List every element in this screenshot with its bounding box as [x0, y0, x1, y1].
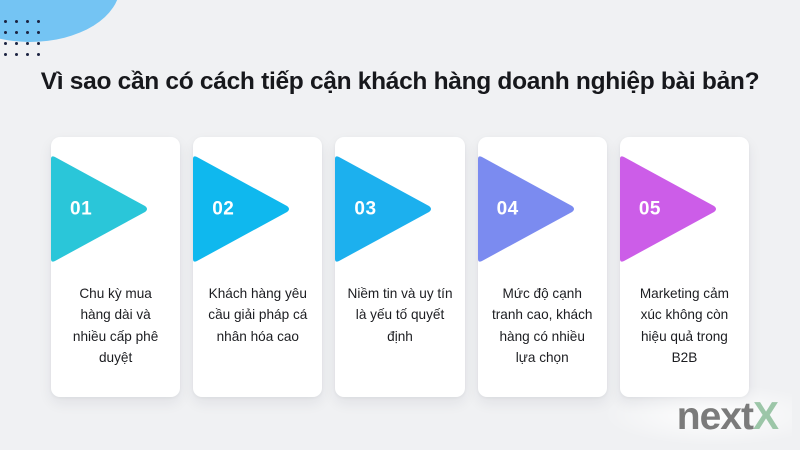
slide-canvas: Vì sao cần có cách tiếp cận khách hàng d… [0, 0, 800, 450]
card-item[interactable]: 03 Niềm tin và uy tín là yếu tố quyết đị… [335, 137, 464, 397]
card-number-label: 05 [639, 200, 661, 219]
card-body-text: Mức độ cạnh tranh cao, khách hàng có nhi… [478, 283, 607, 369]
card-body-text: Niềm tin và uy tín là yếu tố quyết định [335, 283, 464, 347]
card-item[interactable]: 05 Marketing cảm xúc không còn hiệu quả … [620, 137, 749, 397]
card-number-badge: 04 [478, 155, 607, 263]
logo-text-next: next [677, 397, 753, 436]
card-body-text: Khách hàng yêu cầu giải pháp cá nhân hóa… [193, 283, 322, 347]
card-item[interactable]: 04 Mức độ cạnh tranh cao, khách hàng có … [478, 137, 607, 397]
nextx-logo: nextX [677, 397, 778, 436]
play-triangle-icon [51, 155, 148, 263]
play-triangle-icon [620, 155, 717, 263]
card-number-badge: 02 [193, 155, 322, 263]
card-number-badge: 03 [335, 155, 464, 263]
play-triangle-icon [335, 155, 432, 263]
card-list: 01 Chu kỳ mua hàng dài và nhiều cấp phê … [51, 137, 749, 397]
card-number-label: 04 [497, 200, 519, 219]
card-item[interactable]: 01 Chu kỳ mua hàng dài và nhiều cấp phê … [51, 137, 180, 397]
card-number-label: 03 [354, 200, 376, 219]
card-item[interactable]: 02 Khách hàng yêu cầu giải pháp cá nhân … [193, 137, 322, 397]
page-title: Vì sao cần có cách tiếp cận khách hàng d… [0, 68, 800, 96]
dot-grid-decoration [4, 20, 48, 64]
card-number-badge: 01 [51, 155, 180, 263]
card-body-text: Marketing cảm xúc không còn hiệu quả tro… [620, 283, 749, 369]
play-triangle-icon [193, 155, 290, 263]
logo-text-x: X [753, 397, 778, 436]
card-body-text: Chu kỳ mua hàng dài và nhiều cấp phê duy… [51, 283, 180, 369]
card-number-label: 02 [212, 200, 234, 219]
card-number-badge: 05 [620, 155, 749, 263]
play-triangle-icon [478, 155, 575, 263]
card-number-label: 01 [70, 200, 92, 219]
